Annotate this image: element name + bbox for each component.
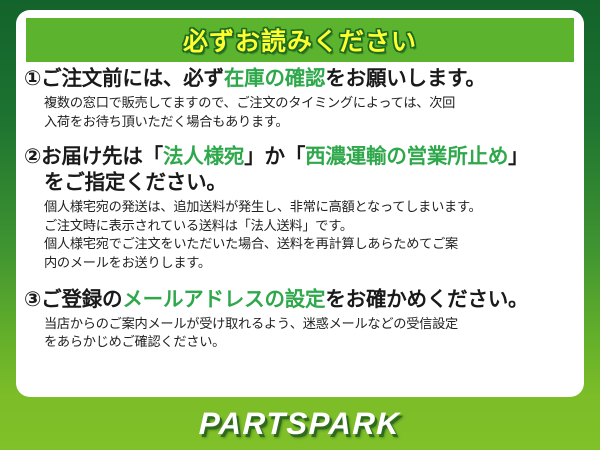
item-3-subline-2: をあらかじめご確認ください。	[44, 334, 574, 353]
item-3-head-part-1: ③ご登録の	[24, 287, 122, 311]
item-2-subtext: 個人様宅宛の発送は、追加送料が発生し、非常に高額となってしまいます。 ご注文時に…	[24, 199, 578, 274]
item-3-subtext: 当店からのご案内メールが受け取れるよう、迷惑メールなどの受信設定 をあらかじめご…	[24, 316, 578, 353]
item-1-heading: ①ご注文前には、必ず在庫の確認をお願いします。	[24, 66, 578, 92]
brand-logo: PARTSPARK	[199, 406, 402, 442]
item-2-subline-1: 個人様宅宛の発送は、追加送料が発生し、非常に高額となってしまいます。	[44, 199, 574, 218]
item-2-head-part-1: ②お届け先は	[24, 144, 143, 168]
item-2-subline-2: ご注文時に表示されている送料は「法人送料」です。	[44, 218, 574, 237]
item-3-head-part-3: をお確かめください。	[325, 287, 528, 311]
item-2-highlight-1: 法人様宛	[163, 144, 244, 168]
item-2-conjunction: か	[265, 144, 285, 168]
item-1-subline-2: 入荷をお待ち頂いただく場合もあります。	[44, 114, 574, 133]
item-1-highlight: 在庫の確認	[224, 66, 326, 90]
item-2-bracket-open-1: 「	[143, 144, 163, 168]
banner-title: 必ずお読みください	[183, 22, 417, 58]
item-1-subtext: 複数の窓口で販売してますので、ご注文のタイミングによっては、次回 入荷をお待ち頂…	[24, 95, 578, 132]
item-2-bracket-close-2: 」	[508, 144, 528, 168]
item-1-subline-1: 複数の窓口で販売してますので、ご注文のタイミングによっては、次回	[44, 95, 574, 114]
item-2-heading: ②お届け先は「法人様宛」か「西濃運輸の営業所止め」	[24, 144, 578, 170]
item-1-head-part-1: ①ご注文前には、必ず	[24, 66, 224, 90]
footer-bar: PARTSPARK	[0, 397, 600, 450]
item-2-bracket-close-1: 」	[244, 144, 264, 168]
item-3-highlight: メールアドレスの設定	[122, 287, 325, 311]
item-2-subline-3: 個人様宅宛でご注文をいただいた場合、送料を再計算しあらためてご案	[44, 236, 574, 255]
notice-item-3: ③ご登録のメールアドレスの設定をお確かめください。 当店からのご案内メールが受け…	[24, 287, 578, 353]
item-3-heading: ③ご登録のメールアドレスの設定をお確かめください。	[24, 287, 578, 313]
notice-content: ①ご注文前には、必ず在庫の確認をお願いします。 複数の窓口で販売してますので、ご…	[16, 66, 584, 355]
notice-card: 必ずお読みください ①ご注文前には、必ず在庫の確認をお願いします。 複数の窓口で…	[16, 10, 584, 397]
item-2-bracket-open-2: 「	[285, 144, 305, 168]
item-1-head-part-3: をお願いします。	[325, 66, 485, 90]
item-2-subline-4: 内のメールをお送りします。	[44, 255, 574, 274]
notice-poster: 必ずお読みください ①ご注文前には、必ず在庫の確認をお願いします。 複数の窓口で…	[0, 0, 600, 450]
header-banner: 必ずお読みください	[26, 18, 574, 62]
notice-item-1: ①ご注文前には、必ず在庫の確認をお願いします。 複数の窓口で販売してますので、ご…	[24, 66, 578, 132]
item-2-highlight-2: 西濃運輸の営業所止め	[305, 144, 508, 168]
notice-item-2: ②お届け先は「法人様宛」か「西濃運輸の営業所止め」 をご指定ください。 個人様宅…	[24, 144, 578, 274]
item-3-subline-1: 当店からのご案内メールが受け取れるよう、迷惑メールなどの受信設定	[44, 316, 574, 335]
item-2-heading-line2: をご指定ください。	[24, 170, 578, 196]
